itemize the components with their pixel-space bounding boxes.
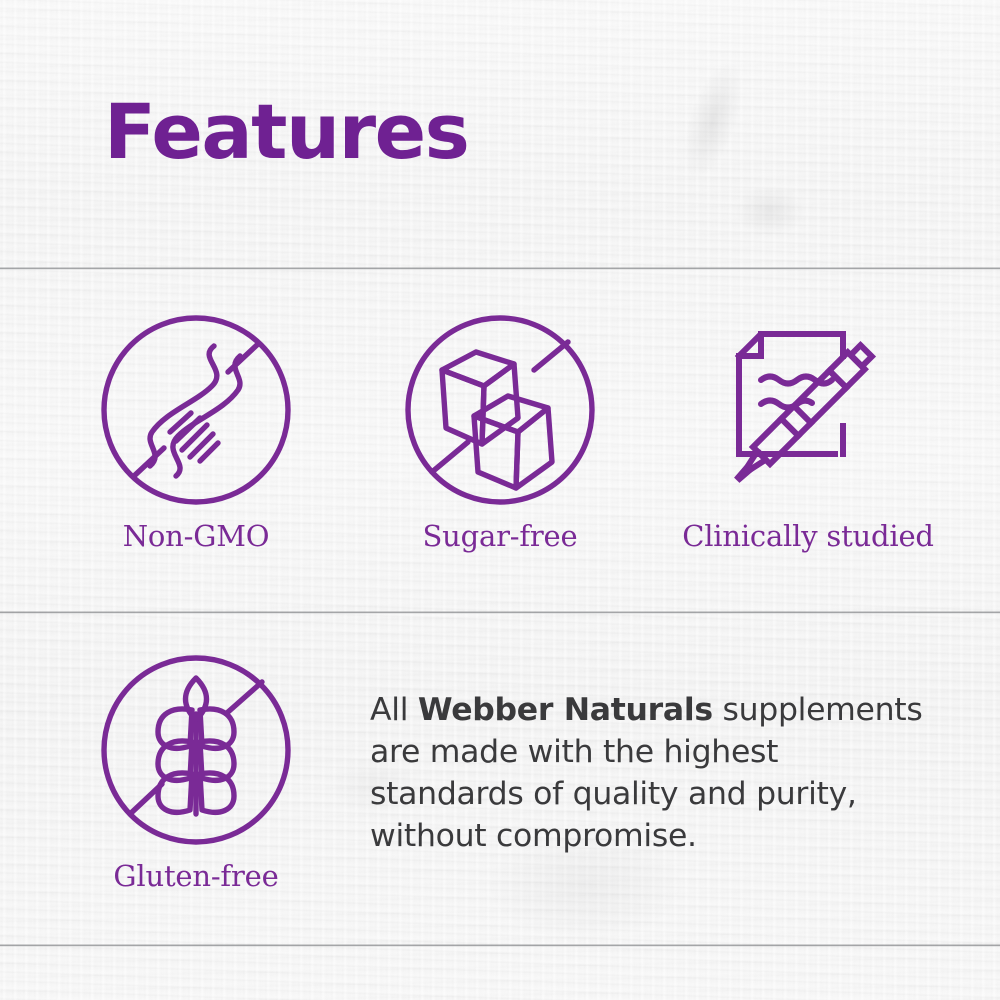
- feature-non-gmo: Non-GMO: [86, 308, 306, 553]
- sugar-cubes-no-circle-icon: [390, 308, 610, 513]
- feature-gluten-free: Gluten-free: [86, 648, 306, 893]
- dna-no-circle-icon: [86, 308, 306, 513]
- feature-label: Non-GMO: [86, 519, 306, 553]
- feature-clinically-studied: Clinically studied: [666, 308, 950, 553]
- promo-lead: All: [370, 692, 418, 728]
- brand-name: Webber Naturals: [418, 692, 713, 728]
- promo-text: All Webber Naturals supplements are made…: [370, 690, 940, 858]
- document-pen-icon: [666, 308, 950, 513]
- feature-label: Clinically studied: [666, 519, 950, 553]
- page-title: Features: [104, 94, 468, 170]
- feature-label: Gluten-free: [86, 859, 306, 893]
- feature-sugar-free: Sugar-free: [390, 308, 610, 553]
- feature-label: Sugar-free: [390, 519, 610, 553]
- wheat-no-circle-icon: [86, 648, 306, 853]
- poster-content: Features: [0, 0, 1000, 1000]
- poster-canvas: Features: [0, 0, 1000, 1000]
